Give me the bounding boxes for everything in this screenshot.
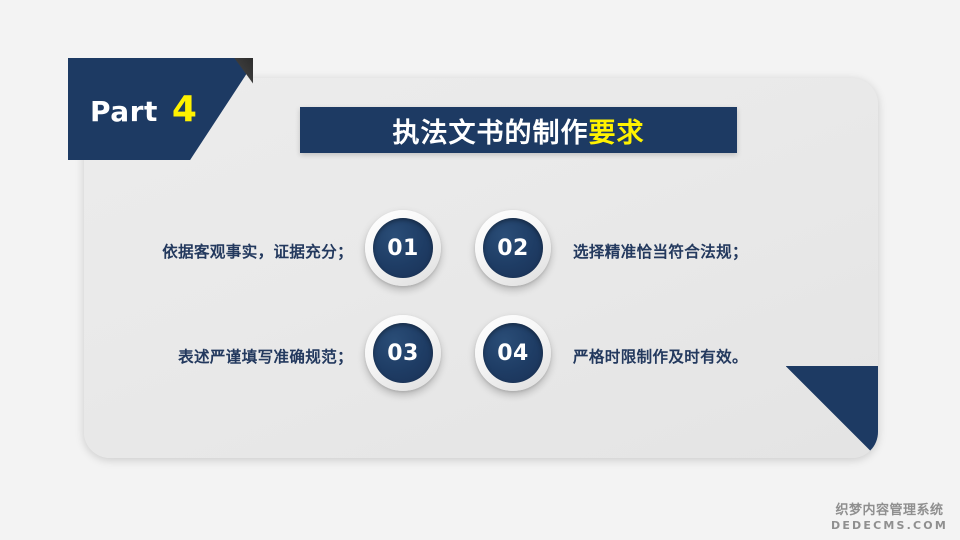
part-label: Part [90, 95, 158, 128]
item-text-01: 依据客观事实，证据充分； [162, 240, 353, 262]
item-number-01: 01 [387, 236, 419, 261]
item-circle-04: 04 [475, 315, 551, 391]
item-text-04: 严格时限制作及时有效。 [573, 345, 748, 367]
ribbon-fold-decoration [234, 58, 253, 84]
item-text-03: 表述严谨填写准确规范； [178, 345, 353, 367]
page-title: 执法文书的制作要求 [393, 111, 645, 150]
page-title-main: 执法文书的制作 [393, 118, 589, 149]
item-circle-inner-04: 04 [483, 323, 543, 383]
page-title-highlight: 要求 [589, 118, 645, 149]
item-circle-inner-02: 02 [483, 218, 543, 278]
item-circle-01: 01 [365, 210, 441, 286]
watermark-cn: 织梦内容管理系统 [831, 499, 948, 518]
item-number-04: 04 [497, 341, 529, 366]
section-title-bar: 执法文书的制作要求 [300, 107, 737, 153]
watermark-en: DEDECMS.COM [831, 519, 948, 532]
item-circle-inner-01: 01 [373, 218, 433, 278]
part-ribbon-content: Part 4 [68, 89, 197, 130]
item-circle-inner-03: 03 [373, 323, 433, 383]
item-number-03: 03 [387, 341, 419, 366]
item-text-02: 选择精准恰当符合法规； [573, 240, 748, 262]
item-circle-03: 03 [365, 315, 441, 391]
corner-triangle-decoration [786, 366, 878, 458]
item-number-02: 02 [497, 236, 529, 261]
item-circle-02: 02 [475, 210, 551, 286]
slide-canvas: Part 4 执法文书的制作要求 01 02 03 04 依据客观事实，证据充分… [0, 0, 960, 540]
part-number: 4 [172, 89, 197, 130]
watermark: 织梦内容管理系统 DEDECMS.COM [831, 499, 948, 532]
